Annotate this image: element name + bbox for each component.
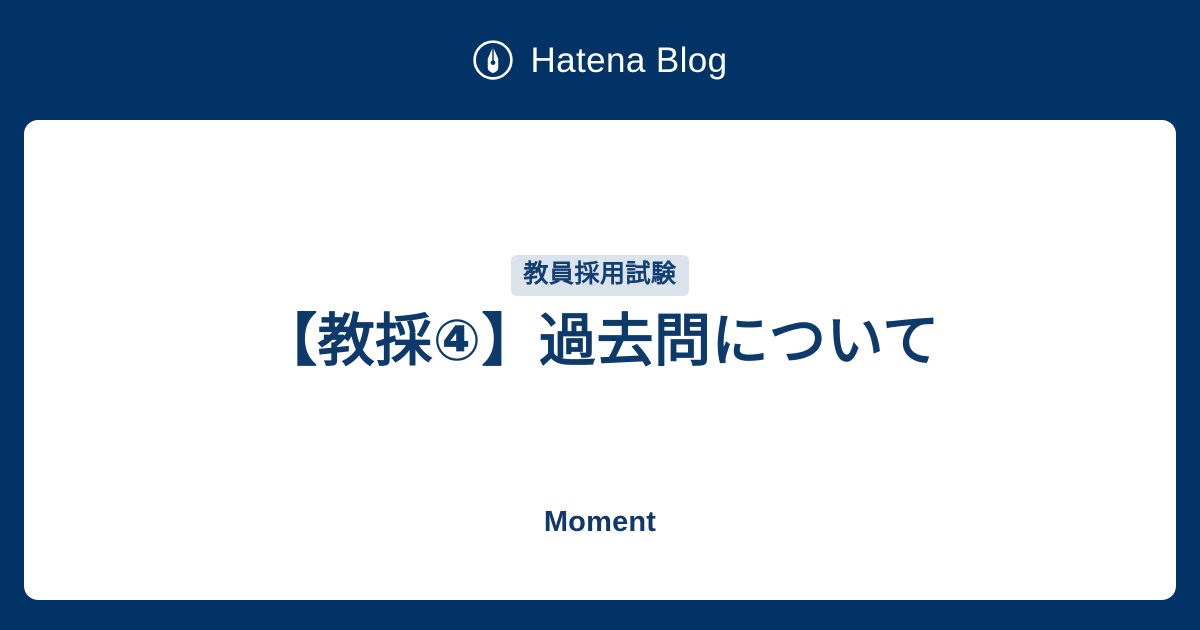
brand-name-text: Hatena Blog [530, 43, 727, 78]
blog-name-container: Moment [24, 508, 1176, 537]
category-badge-container: 教員採用試験 [24, 255, 1176, 296]
hatena-blog-brand-header: Hatena Blog [0, 0, 1200, 120]
category-badge[interactable]: 教員採用試験 [511, 255, 688, 296]
ogp-card-root: Hatena Blog 教員採用試験 【教採④】過去問について Moment [0, 0, 1200, 630]
entry-card: 教員採用試験 【教採④】過去問について Moment [24, 120, 1176, 600]
pen-nib-circle-icon [472, 39, 514, 81]
entry-title-container: 【教採④】過去問について [24, 305, 1176, 378]
blog-name[interactable]: Moment [544, 508, 656, 537]
entry-card-inner: 教員採用試験 【教採④】過去問について Moment [24, 120, 1176, 600]
entry-title: 【教採④】過去問について [260, 305, 940, 378]
